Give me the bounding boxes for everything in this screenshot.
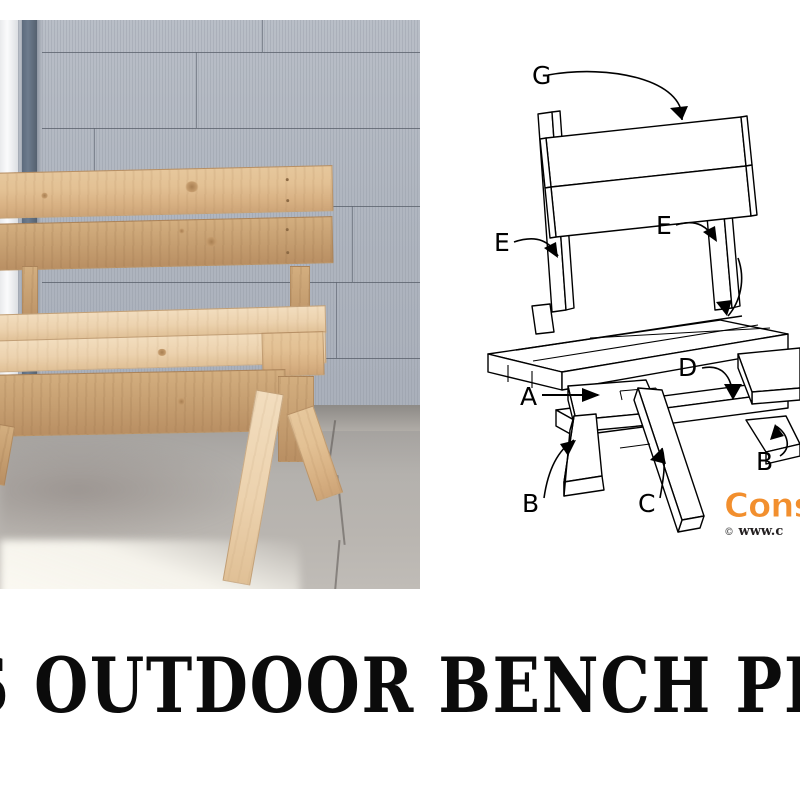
page-title: S OUTDOOR BENCH PLA (0, 646, 800, 726)
assembly-diagram: G E E D A B C B (470, 20, 800, 560)
diagram-label-E-right: E (656, 211, 672, 240)
siding-joint (196, 52, 197, 128)
diagram-label-C: C (638, 489, 655, 518)
brand-name: Cons (724, 486, 800, 526)
diagram-label-D: D (678, 353, 697, 382)
siding-joint (352, 206, 353, 282)
photo-content (0, 20, 420, 589)
diagram-label-G: G (532, 61, 551, 90)
siding-joint (336, 282, 337, 358)
backrest-board-top (0, 165, 333, 219)
diagram-label-E-left: E (494, 228, 510, 257)
apron-rail (0, 369, 287, 437)
siding-seam (30, 282, 420, 283)
back-upright-detail (532, 304, 554, 334)
brand-watermark: Cons © www.c (724, 486, 800, 542)
bench-shadow (0, 435, 260, 545)
copyright-icon: © (724, 527, 734, 538)
page-root: G E E D A B C B Cons © www.c S OUTDOOR B… (0, 0, 800, 800)
diagram-label-B-right: B (756, 447, 773, 476)
diagram-label-A: A (520, 382, 537, 411)
brand-url-line: © www.c (724, 524, 783, 539)
backrest-board-bottom (0, 216, 333, 271)
diagram-label-B-left: B (522, 489, 539, 518)
siding-joint (262, 20, 263, 52)
assembly-diagram-svg: G E E D A B C B (470, 20, 800, 560)
siding-seam (30, 52, 420, 53)
siding-seam (30, 128, 420, 129)
brand-url: www.c (739, 524, 784, 539)
leader-G (548, 72, 682, 120)
page-title-area: S OUTDOOR BENCH PLA (0, 646, 800, 726)
bench-photo (0, 20, 420, 589)
